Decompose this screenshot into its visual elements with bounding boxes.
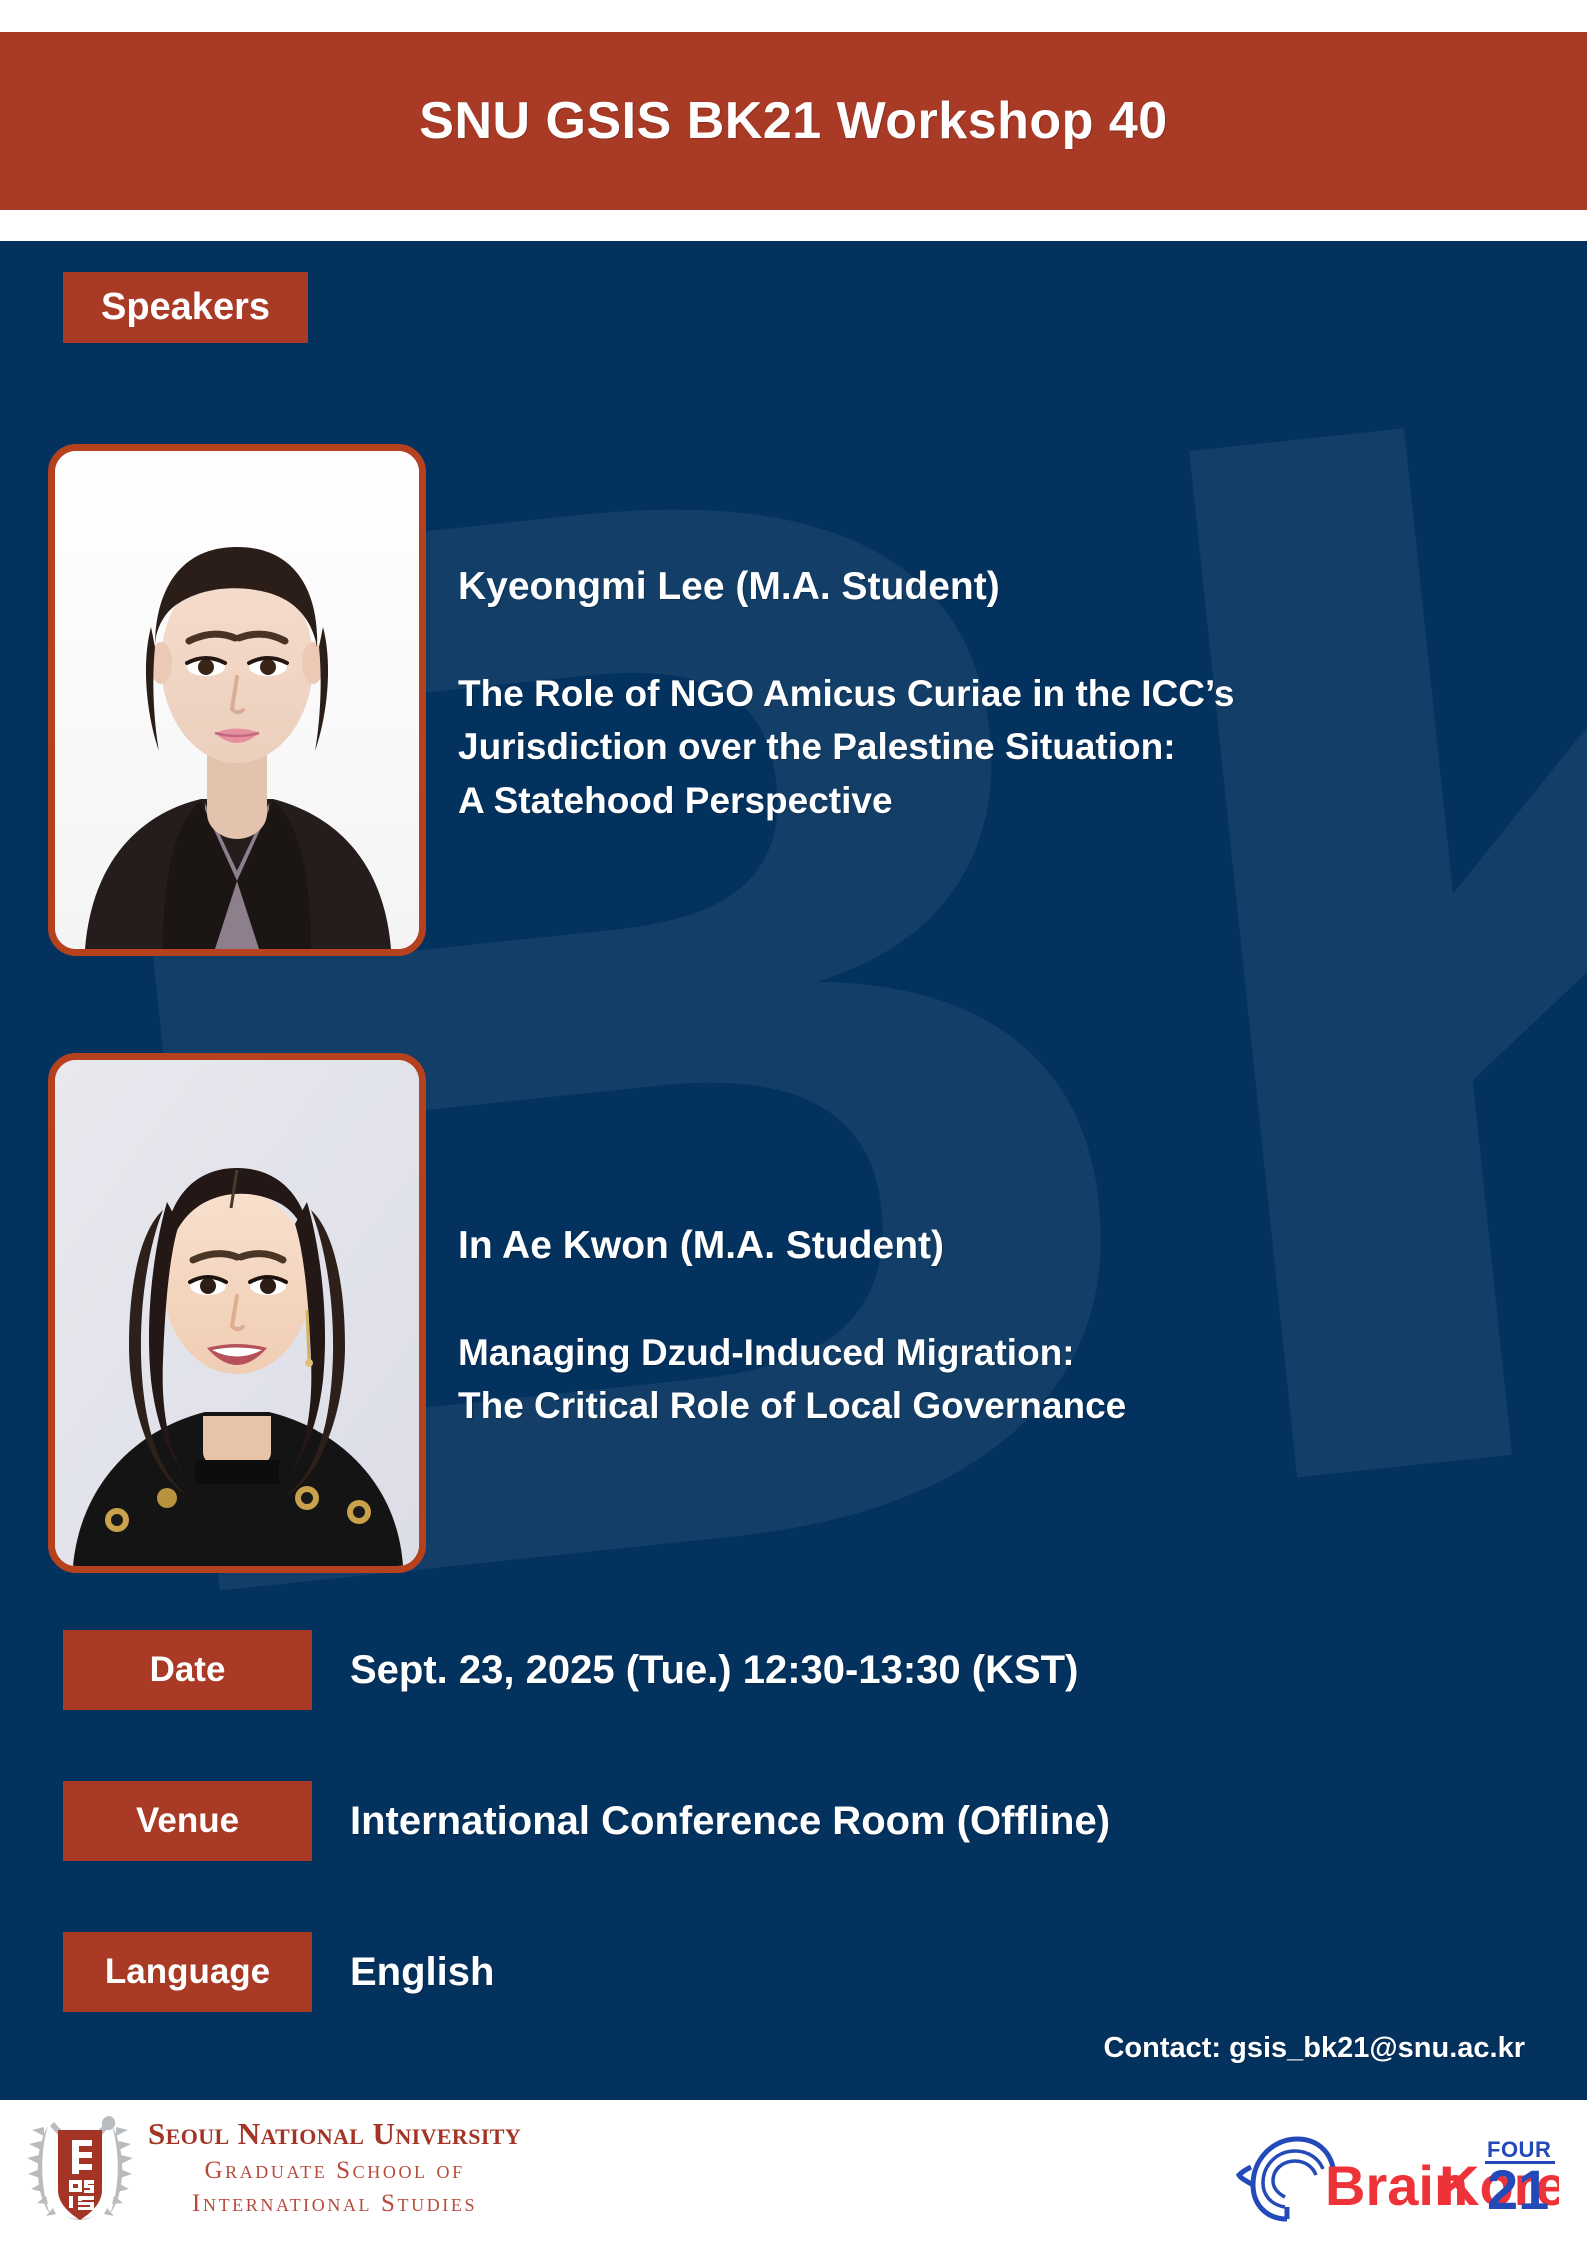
speaker-name-1: Kyeongmi Lee (M.A. Student) bbox=[458, 564, 1538, 611]
info-label-date-text: Date bbox=[150, 1650, 226, 1690]
info-row-language: Language English bbox=[0, 1932, 1587, 2012]
speaker-topic-2: Managing Dzud-Induced Migration: The Cri… bbox=[458, 1326, 1538, 1433]
poster-content: Speakers bbox=[0, 241, 1587, 2100]
poster-title: SNU GSIS BK21 Workshop 40 bbox=[419, 91, 1167, 151]
bk-21-text: 21 bbox=[1487, 2158, 1549, 2221]
title-banner: SNU GSIS BK21 Workshop 40 bbox=[0, 32, 1587, 210]
footer: Seoul National University Graduate Schoo… bbox=[0, 2100, 1587, 2245]
info-value-venue: International Conference Room (Offline) bbox=[350, 1781, 1110, 1861]
banner-separator bbox=[0, 210, 1587, 241]
speaker-photo-frame-2 bbox=[48, 1053, 426, 1573]
speaker-text-1: Kyeongmi Lee (M.A. Student) The Role of … bbox=[458, 564, 1538, 828]
speaker-topic-1-line-1: The Role of NGO Amicus Curiae in the ICC… bbox=[458, 667, 1538, 721]
snu-gsis-logo: Seoul National University Graduate Schoo… bbox=[26, 2108, 521, 2228]
speaker-name-2: In Ae Kwon (M.A. Student) bbox=[458, 1223, 1538, 1270]
speaker-topic-2-line-1: Managing Dzud-Induced Migration: bbox=[458, 1326, 1538, 1380]
portrait-kyeongmi-lee bbox=[55, 451, 419, 949]
speaker-photo-frame-1 bbox=[48, 444, 426, 956]
info-label-date: Date bbox=[63, 1630, 312, 1710]
snu-line-2: Graduate School of bbox=[148, 2154, 521, 2188]
speaker-topic-2-line-2: The Critical Role of Local Governance bbox=[458, 1379, 1538, 1433]
speaker-topic-1-line-2: Jurisdiction over the Palestine Situatio… bbox=[458, 720, 1538, 774]
speakers-tag: Speakers bbox=[63, 272, 308, 343]
contact-line: Contact: gsis_bk21@snu.ac.kr bbox=[1103, 2032, 1525, 2065]
info-value-date: Sept. 23, 2025 (Tue.) 12:30-13:30 (KST) bbox=[350, 1630, 1078, 1710]
info-row-date: Date Sept. 23, 2025 (Tue.) 12:30-13:30 (… bbox=[0, 1630, 1587, 1710]
info-label-language: Language bbox=[63, 1932, 312, 2012]
speaker-topic-1-line-3: A Statehood Perspective bbox=[458, 774, 1538, 828]
speaker-text-2: In Ae Kwon (M.A. Student) Managing Dzud-… bbox=[458, 1223, 1538, 1433]
speaker-topic-1: The Role of NGO Amicus Curiae in the ICC… bbox=[458, 667, 1538, 828]
snu-line-3: International Studies bbox=[148, 2187, 521, 2221]
info-row-venue: Venue International Conference Room (Off… bbox=[0, 1781, 1587, 1861]
portrait-in-ae-kwon bbox=[55, 1060, 419, 1566]
poster-body: BK Speakers bbox=[0, 241, 1587, 2100]
speakers-tag-label: Speakers bbox=[101, 286, 270, 329]
info-label-venue-text: Venue bbox=[136, 1801, 239, 1841]
info-label-language-text: Language bbox=[105, 1952, 270, 1992]
top-margin bbox=[0, 0, 1587, 32]
snu-wordmark: Seoul National University Graduate Schoo… bbox=[148, 2115, 521, 2221]
snu-line-1: Seoul National University bbox=[148, 2115, 521, 2154]
info-label-venue: Venue bbox=[63, 1781, 312, 1861]
brain-korea-21-mark: Brain Korea FOUR 21 bbox=[1229, 2123, 1559, 2223]
brain-korea-21-logo: Brain Korea FOUR 21 bbox=[1229, 2120, 1559, 2225]
info-value-language: English bbox=[350, 1932, 494, 2012]
snu-crest-icon bbox=[26, 2108, 134, 2228]
